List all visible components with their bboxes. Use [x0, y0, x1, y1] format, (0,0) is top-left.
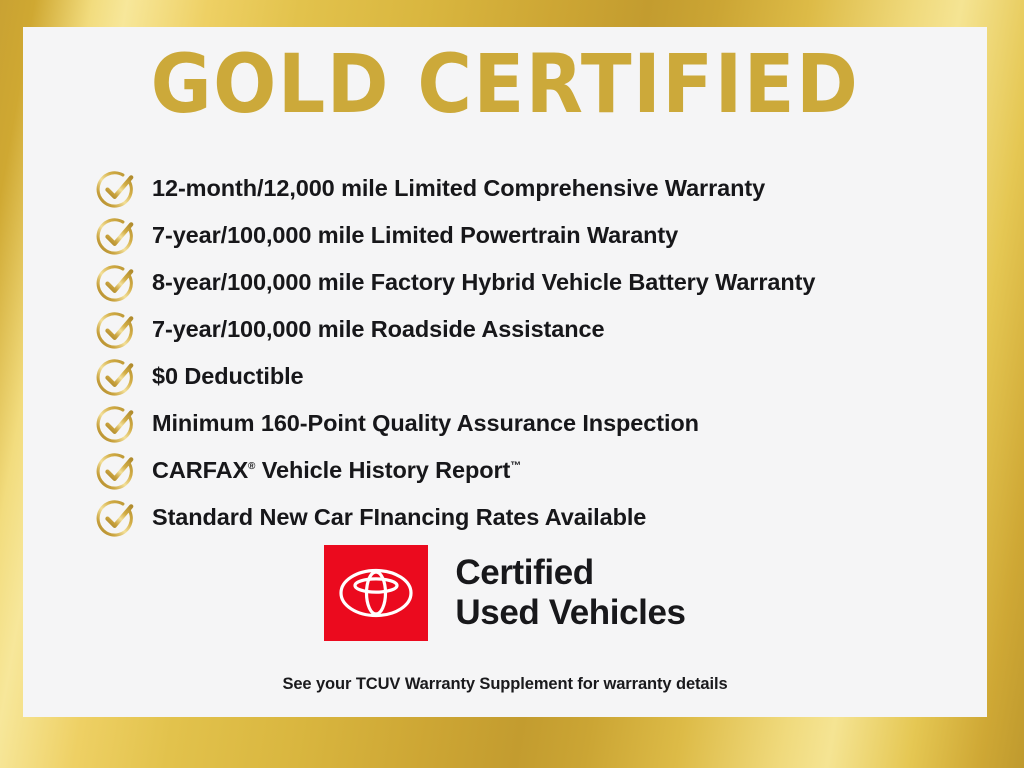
toyota-emblem-icon — [338, 567, 414, 619]
gold-check-circle-icon — [94, 213, 140, 259]
carfax-label-rest: Vehicle History Report — [255, 457, 510, 483]
gold-certified-banner: GOLD CERTIFIED — [0, 0, 1024, 768]
lockup-line-1: Certified — [455, 553, 685, 593]
gold-check-circle-icon — [94, 307, 140, 353]
list-item-label: Minimum 160-Point Quality Assurance Insp… — [152, 410, 699, 437]
list-item: Standard New Car FInancing Rates Availab… — [94, 494, 984, 541]
trademark-mark: ™ — [510, 460, 521, 472]
lockup-text: Certified Used Vehicles — [455, 553, 685, 632]
list-item: 7-year/100,000 mile Limited Powertrain W… — [94, 212, 984, 259]
list-item-label: 8-year/100,000 mile Factory Hybrid Vehic… — [152, 269, 815, 296]
lockup-line-2: Used Vehicles — [455, 593, 685, 633]
list-item-label: 7-year/100,000 mile Limited Powertrain W… — [152, 222, 678, 249]
list-item-label: Standard New Car FInancing Rates Availab… — [152, 504, 646, 531]
list-item: 12-month/12,000 mile Limited Comprehensi… — [94, 165, 984, 212]
list-item: Minimum 160-Point Quality Assurance Insp… — [94, 400, 984, 447]
gold-check-circle-icon — [94, 354, 140, 400]
gold-check-circle-icon — [94, 166, 140, 212]
benefits-list: 12-month/12,000 mile Limited Comprehensi… — [94, 165, 984, 541]
list-item-label: 7-year/100,000 mile Roadside Assistance — [152, 316, 604, 343]
content-card: GOLD CERTIFIED — [23, 27, 987, 717]
list-item-label: 12-month/12,000 mile Limited Comprehensi… — [152, 175, 765, 202]
toyota-certified-used-vehicles-lockup: Certified Used Vehicles — [23, 545, 987, 641]
list-item-label-carfax: CARFAX® Vehicle History Report™ — [152, 457, 521, 484]
gold-check-circle-icon — [94, 495, 140, 541]
list-item: 7-year/100,000 mile Roadside Assistance — [94, 306, 984, 353]
carfax-wordmark: CARFAX — [152, 457, 248, 483]
list-item: 8-year/100,000 mile Factory Hybrid Vehic… — [94, 259, 984, 306]
list-item: $0 Deductible — [94, 353, 984, 400]
gold-check-circle-icon — [94, 401, 140, 447]
list-item: CARFAX® Vehicle History Report™ — [94, 447, 984, 494]
toyota-logo-tile — [324, 545, 428, 641]
gold-check-circle-icon — [94, 260, 140, 306]
page-title: GOLD CERTIFIED — [23, 45, 987, 126]
warranty-disclaimer: See your TCUV Warranty Supplement for wa… — [23, 675, 987, 694]
list-item-label: $0 Deductible — [152, 363, 304, 390]
gold-check-circle-icon — [94, 448, 140, 494]
